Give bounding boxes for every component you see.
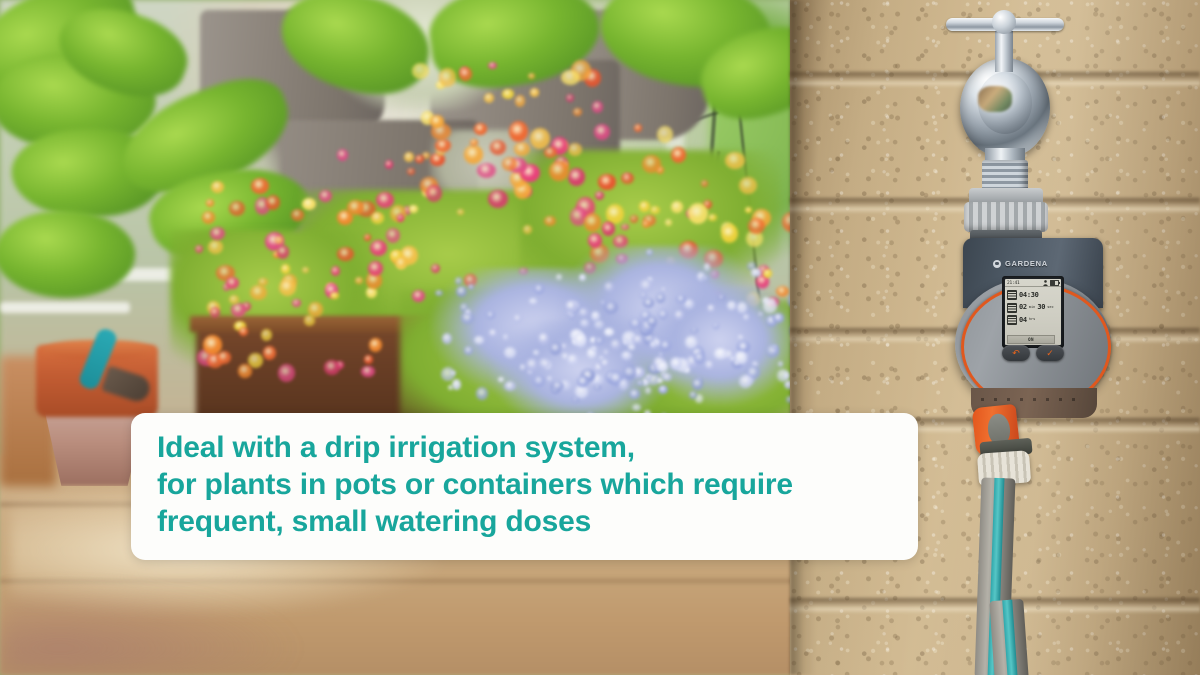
flower-blossom	[763, 269, 772, 278]
person-icon	[1043, 280, 1048, 286]
flower-blossom	[549, 161, 569, 181]
lobelia-floret	[658, 385, 667, 394]
flower-blossom	[369, 338, 382, 352]
lobelia-floret	[486, 311, 494, 319]
flower-blossom	[688, 203, 708, 224]
flower-blossom	[386, 228, 400, 243]
lobelia-floret	[629, 389, 640, 398]
lobelia-floret	[538, 358, 551, 369]
flower-blossom	[630, 215, 638, 222]
lcd-row-start-time: 04:30	[1007, 290, 1059, 300]
lobelia-floret	[534, 284, 544, 294]
flower-blossom	[708, 214, 717, 221]
lobelia-floret	[464, 346, 473, 354]
flower-blossom	[606, 204, 624, 224]
lcd-row-frequency: 04 hrs	[1007, 315, 1059, 325]
flower-blossom	[488, 62, 496, 69]
lobelia-floret	[662, 373, 672, 381]
lobelia-floret	[773, 313, 783, 323]
lcd-status-icons	[1043, 280, 1059, 286]
flower-blossom	[302, 198, 316, 210]
flower-blossom	[639, 201, 650, 212]
flower-blossom	[407, 168, 414, 175]
lobelia-floret	[551, 381, 563, 391]
lcd-duration-min-unit: min	[1029, 306, 1036, 310]
frequency-icon	[1007, 315, 1017, 325]
lobelia-floret	[529, 298, 537, 304]
flower-blossom	[229, 201, 245, 216]
flower-blossom	[665, 219, 672, 226]
caption-line-1: Ideal with a drip irrigation system,	[157, 429, 918, 466]
flower-blossom	[598, 174, 615, 190]
flower-blossom	[324, 360, 340, 375]
flower-blossom	[544, 216, 555, 226]
flower-blossom	[210, 307, 220, 317]
gardena-water-computer[interactable]: GARDENA 21:41	[955, 238, 1115, 428]
lobelia-floret	[674, 310, 683, 319]
device-lcd-screen: 21:41 04:30	[1005, 279, 1061, 345]
flower-blossom	[502, 157, 518, 171]
flower-blossom	[347, 200, 364, 215]
lobelia-floret	[705, 361, 715, 369]
lobelia-floret	[727, 301, 736, 310]
flower-blossom	[671, 147, 686, 163]
flower-blossom	[364, 234, 371, 241]
lobelia-floret	[567, 354, 578, 365]
lcd-clock: 21:41	[1007, 281, 1020, 286]
lobelia-floret	[600, 359, 610, 367]
flower-blossom	[371, 212, 384, 224]
lobelia-floret	[639, 279, 653, 292]
lobelia-floret	[670, 357, 682, 369]
lobelia-floret	[452, 379, 461, 390]
flower-blossom	[361, 366, 375, 377]
lcd-start-time-value: 04:30	[1019, 292, 1039, 299]
balcony-railing	[0, 302, 130, 313]
flower-blossom	[217, 351, 231, 364]
flower-blossom	[291, 209, 304, 220]
flower-blossom	[206, 199, 214, 206]
lobelia-floret	[579, 274, 585, 281]
flower-blossom	[514, 142, 530, 156]
tap-handle-knob[interactable]	[992, 10, 1016, 34]
flower-blossom	[250, 285, 267, 300]
device-button-row: ↶ ✓	[999, 342, 1067, 364]
duration-icon	[1007, 303, 1017, 313]
flower-blossom	[459, 67, 472, 81]
lobelia-floret	[702, 276, 709, 282]
lobelia-floret	[645, 387, 652, 394]
lcd-row-duration: 02 min 30 sec	[1007, 303, 1059, 313]
lobelia-floret	[513, 314, 522, 324]
flower-blossom	[490, 140, 506, 155]
lobelia-floret	[533, 375, 545, 387]
flower-blossom	[657, 126, 673, 143]
lobelia-floret	[575, 385, 588, 398]
flower-blossom	[385, 160, 393, 168]
lcd-status-bar: 21:41	[1005, 279, 1061, 287]
lobelia-floret	[640, 292, 647, 299]
lobelia-floret	[713, 323, 719, 329]
flower-blossom	[292, 299, 301, 307]
flower-blossom	[748, 218, 765, 234]
lobelia-floret	[526, 358, 538, 371]
flower-blossom	[430, 115, 445, 128]
device-confirm-button[interactable]: ✓	[1036, 345, 1064, 361]
flower-blossom	[530, 128, 550, 149]
lobelia-floret	[657, 361, 668, 372]
garden-scene-photo: GARDENA 21:41	[0, 0, 1200, 675]
lcd-frequency-unit: hrs	[1029, 318, 1036, 322]
lobelia-floret	[685, 336, 697, 349]
clock-icon	[1007, 290, 1017, 300]
lobelia-floret	[661, 287, 666, 292]
lobelia-floret	[658, 309, 668, 320]
flower-blossom	[488, 190, 508, 208]
flower-blossom	[721, 224, 738, 243]
lobelia-floret	[623, 365, 636, 380]
lobelia-floret	[714, 348, 726, 359]
lobelia-floret	[575, 333, 586, 345]
lobelia-floret	[637, 380, 643, 385]
lobelia-floret	[730, 356, 735, 360]
flower-blossom	[592, 101, 604, 113]
lobelia-floret	[476, 387, 488, 399]
flower-blossom	[474, 123, 487, 135]
lobelia-floret	[565, 300, 577, 312]
lobelia-floret	[645, 374, 651, 380]
lcd-duration-sec-unit: sec	[1047, 306, 1054, 310]
video-frame: GARDENA 21:41	[0, 0, 1200, 675]
lobelia-floret	[628, 344, 634, 350]
lobelia-floret	[751, 268, 761, 277]
device-back-button[interactable]: ↶	[1002, 345, 1030, 361]
back-arrow-icon: ↶	[1012, 349, 1020, 358]
lobelia-floret	[455, 277, 462, 285]
flower-blossom	[439, 68, 457, 87]
flower-blossom	[229, 295, 239, 304]
lcd-frequency-value: 04	[1019, 317, 1027, 324]
flower-blossom	[203, 335, 222, 354]
garden-hose-lower	[989, 599, 1028, 675]
flower-blossom	[509, 121, 528, 142]
lobelia-floret	[692, 378, 703, 390]
flower-blossom	[208, 240, 224, 254]
tap-reflection	[978, 86, 1012, 112]
flower-blossom	[568, 143, 582, 156]
flower-blossom	[671, 201, 683, 213]
flower-blossom	[415, 155, 423, 163]
lobelia-floret	[739, 375, 752, 388]
lcd-duration-sec: 30	[1037, 304, 1045, 311]
flower-blossom	[364, 355, 372, 364]
flower-blossom	[602, 222, 615, 236]
flower-blossom	[561, 70, 579, 85]
lobelia-floret	[591, 346, 597, 351]
check-icon: ✓	[1046, 349, 1054, 358]
lobelia-floret	[578, 308, 589, 317]
caption-card: Ideal with a drip irrigation system, for…	[131, 413, 918, 560]
flower-blossom	[544, 147, 557, 158]
flower-blossom	[266, 195, 280, 210]
tap-stem	[995, 28, 1013, 72]
tap-adapter-nut[interactable]	[964, 202, 1048, 232]
lobelia-floret	[488, 329, 498, 338]
lobelia-floret	[550, 342, 561, 354]
flower-blossom	[642, 220, 650, 228]
flower-blossom	[568, 168, 585, 185]
lobelia-floret	[689, 391, 697, 399]
flower-blossom	[457, 209, 464, 215]
lobelia-floret	[604, 282, 613, 292]
flower-blossom	[515, 95, 525, 106]
lobelia-floret	[450, 371, 456, 376]
lobelia-floret	[735, 351, 746, 363]
flower-blossom	[530, 88, 539, 96]
flower-blossom	[594, 124, 610, 140]
flower-blossom	[304, 315, 315, 325]
lobelia-floret	[632, 335, 643, 344]
lcd-duration-min: 02	[1019, 304, 1027, 311]
device-lcd-bezel: 21:41 04:30	[1002, 276, 1064, 348]
flower-blossom	[409, 205, 417, 213]
outdoor-water-tap[interactable]	[940, 0, 1100, 250]
lobelia-floret	[718, 295, 725, 300]
flower-blossom	[275, 236, 283, 245]
flower-blossom	[650, 206, 660, 215]
lobelia-floret	[772, 345, 777, 349]
lobelia-floret	[435, 290, 442, 296]
flower-blossom	[573, 108, 582, 116]
lobelia-floret	[619, 379, 629, 390]
lobelia-floret	[504, 347, 516, 358]
lobelia-floret	[656, 293, 665, 303]
lobelia-floret	[660, 340, 671, 352]
lobelia-floret	[737, 302, 747, 313]
lobelia-floret	[646, 249, 654, 256]
flower-blossom	[464, 145, 483, 163]
lobelia-floret	[647, 316, 658, 327]
lobelia-floret	[498, 377, 504, 383]
deck-shadow	[0, 585, 300, 675]
flower-blossom	[238, 364, 251, 378]
flower-blossom	[484, 93, 494, 103]
caption-line-2: for plants in pots or containers which r…	[157, 466, 918, 503]
stone-wall-edge	[790, 0, 816, 675]
flower-blossom	[426, 185, 441, 202]
flower-blossom	[412, 63, 429, 78]
gardena-brand-text: GARDENA	[1005, 259, 1048, 268]
lobelia-floret	[704, 263, 711, 270]
flower-blossom	[739, 177, 757, 194]
lobelia-floret	[468, 284, 474, 290]
battery-icon	[1050, 280, 1059, 286]
lobelia-floret	[595, 337, 604, 345]
lobelia-floret	[604, 328, 613, 336]
flower-blossom	[477, 163, 496, 179]
flower-blossom	[370, 240, 387, 256]
lcd-on-label: ON	[1028, 337, 1034, 342]
lobelia-floret	[707, 304, 715, 313]
flower-blossom	[595, 191, 604, 200]
caption-line-3: frequent, small watering doses	[157, 503, 918, 540]
flower-blossom	[566, 94, 573, 102]
lobelia-floret	[632, 404, 641, 411]
lobelia-floret	[594, 320, 603, 329]
flower-blossom	[642, 155, 661, 173]
flower-blossom	[231, 303, 246, 316]
gardena-logo-mark	[993, 260, 1001, 268]
flower-blossom	[523, 225, 532, 234]
flower-blossom	[337, 247, 354, 261]
flower-blossom	[211, 181, 224, 193]
lobelia-floret	[594, 385, 600, 391]
lobelia-floret	[538, 332, 550, 345]
gardena-logo: GARDENA	[993, 259, 1048, 268]
lcd-value-rows: 04:30 02 min 30 sec 04 hrs	[1005, 287, 1061, 325]
flower-blossom	[279, 279, 296, 296]
flower-blossom	[470, 139, 478, 146]
